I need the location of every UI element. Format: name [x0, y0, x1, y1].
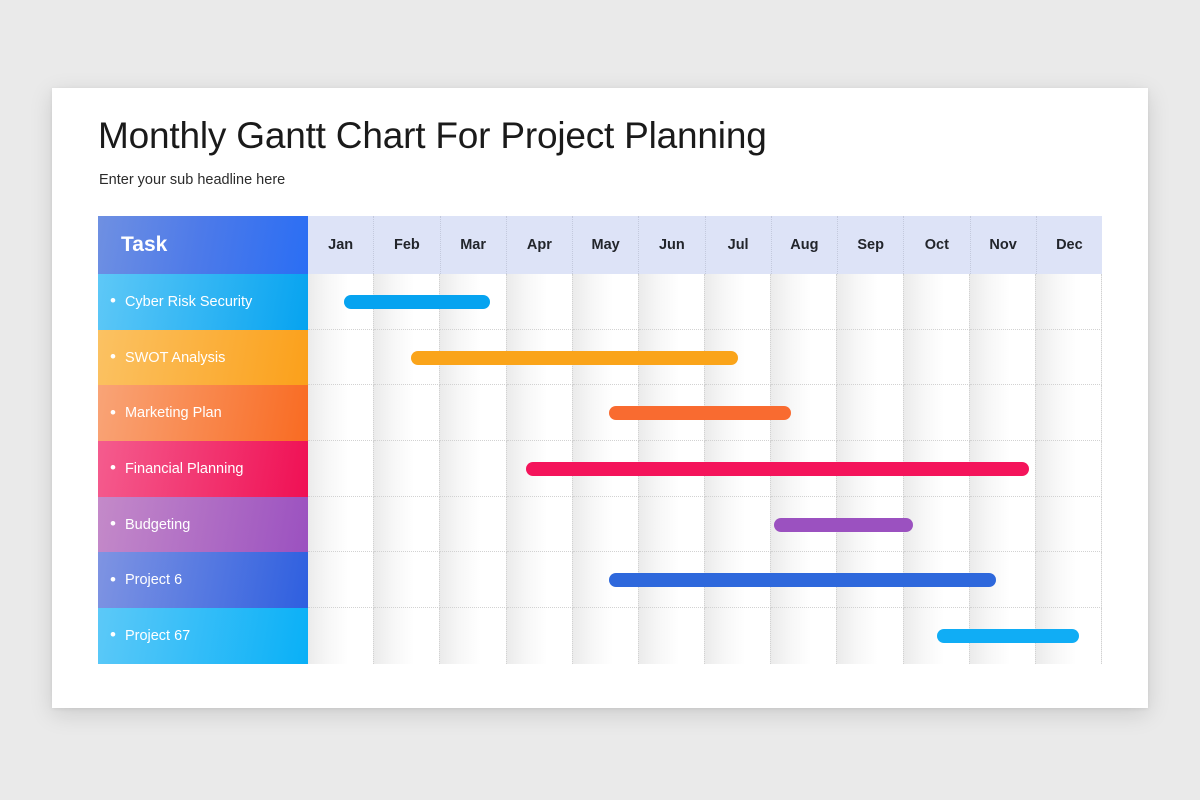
timeline-cell	[507, 497, 573, 553]
task-timeline-track	[308, 274, 1102, 330]
timeline-cell	[904, 330, 970, 386]
gantt-bar[interactable]	[344, 295, 490, 309]
timeline-cell	[440, 441, 506, 497]
timeline-cell	[507, 274, 573, 330]
gantt-header-row: Task JanFebMarAprMayJunJulAugSepOctNovDe…	[98, 216, 1102, 274]
timeline-cell	[374, 441, 440, 497]
gantt-bar[interactable]	[937, 629, 1079, 643]
timeline-cell	[1036, 385, 1102, 441]
timeline-cell	[440, 552, 506, 608]
bullet-icon: •	[110, 292, 116, 309]
gantt-row: •Budgeting	[98, 497, 1102, 553]
gantt-row: •Marketing Plan	[98, 385, 1102, 441]
timeline-cell	[837, 385, 903, 441]
timeline-cell	[1036, 330, 1102, 386]
timeline-cell	[639, 497, 705, 553]
task-label-cell[interactable]: •Marketing Plan	[98, 385, 308, 441]
month-header-strip: JanFebMarAprMayJunJulAugSepOctNovDec	[308, 216, 1102, 274]
month-header-apr: Apr	[507, 216, 573, 274]
task-timeline-track	[308, 385, 1102, 441]
gantt-row: •Project 6	[98, 552, 1102, 608]
timeline-cell	[374, 552, 440, 608]
gantt-bar[interactable]	[609, 573, 996, 587]
timeline-cell	[507, 552, 573, 608]
timeline-cell	[705, 274, 771, 330]
month-header-aug: Aug	[772, 216, 838, 274]
timeline-cell	[771, 274, 837, 330]
task-timeline-track	[308, 497, 1102, 553]
timeline-cell	[573, 274, 639, 330]
task-label-text: Project 6	[125, 572, 182, 588]
bullet-icon: •	[110, 348, 116, 365]
timeline-cell	[308, 608, 374, 664]
timeline-cell	[837, 274, 903, 330]
timeline-cell	[771, 330, 837, 386]
gantt-chart: Task JanFebMarAprMayJunJulAugSepOctNovDe…	[98, 216, 1102, 664]
bullet-icon: •	[110, 626, 116, 643]
task-timeline-track	[308, 330, 1102, 386]
gantt-bar[interactable]	[526, 462, 1029, 476]
timeline-cell	[308, 385, 374, 441]
page-title: Monthly Gantt Chart For Project Planning	[98, 115, 767, 157]
month-header-oct: Oct	[904, 216, 970, 274]
task-timeline-track	[308, 552, 1102, 608]
bullet-icon: •	[110, 571, 116, 588]
timeline-cell	[440, 385, 506, 441]
timeline-cell	[308, 552, 374, 608]
timeline-cell	[573, 497, 639, 553]
timeline-cell	[374, 608, 440, 664]
timeline-cell	[308, 497, 374, 553]
task-label-text: Project 67	[125, 628, 190, 644]
task-label-text: Marketing Plan	[125, 405, 222, 421]
task-label-cell[interactable]: •Project 6	[98, 552, 308, 608]
page-subtitle: Enter your sub headline here	[99, 172, 285, 188]
month-header-may: May	[573, 216, 639, 274]
timeline-cell	[1036, 274, 1102, 330]
task-label-cell[interactable]: •Financial Planning	[98, 441, 308, 497]
timeline-cell	[970, 385, 1036, 441]
month-header-jan: Jan	[308, 216, 374, 274]
timeline-cell	[705, 608, 771, 664]
gantt-row: •SWOT Analysis	[98, 330, 1102, 386]
timeline-cell	[904, 497, 970, 553]
gantt-row: •Financial Planning	[98, 441, 1102, 497]
timeline-cell	[374, 385, 440, 441]
gantt-body: •Cyber Risk Security•SWOT Analysis•Marke…	[98, 274, 1102, 664]
month-header-dec: Dec	[1037, 216, 1102, 274]
gantt-bar[interactable]	[609, 406, 791, 420]
task-label-text: Cyber Risk Security	[125, 294, 252, 310]
bullet-icon: •	[110, 404, 116, 421]
task-label-text: Financial Planning	[125, 461, 244, 477]
timeline-cell	[1036, 497, 1102, 553]
timeline-cell	[308, 330, 374, 386]
timeline-cell	[639, 274, 705, 330]
timeline-cell	[440, 497, 506, 553]
task-label-cell[interactable]: •Project 67	[98, 608, 308, 664]
timeline-cell	[573, 608, 639, 664]
month-header-jul: Jul	[706, 216, 772, 274]
timeline-cell	[970, 330, 1036, 386]
task-timeline-track	[308, 441, 1102, 497]
timeline-cell	[970, 274, 1036, 330]
timeline-cell	[639, 608, 705, 664]
gantt-row: •Project 67	[98, 608, 1102, 664]
month-header-mar: Mar	[441, 216, 507, 274]
task-column-header-label: Task	[121, 233, 167, 257]
timeline-cell	[507, 385, 573, 441]
task-label-cell[interactable]: •SWOT Analysis	[98, 330, 308, 386]
gantt-bar[interactable]	[411, 351, 739, 365]
timeline-cell	[904, 274, 970, 330]
timeline-cell	[837, 330, 903, 386]
timeline-cell	[705, 497, 771, 553]
timeline-cell	[970, 497, 1036, 553]
month-header-jun: Jun	[639, 216, 705, 274]
timeline-cell	[1036, 441, 1102, 497]
gantt-bar[interactable]	[774, 518, 913, 532]
task-label-cell[interactable]: •Cyber Risk Security	[98, 274, 308, 330]
timeline-cell	[440, 608, 506, 664]
gantt-row: •Cyber Risk Security	[98, 274, 1102, 330]
task-label-cell[interactable]: •Budgeting	[98, 497, 308, 553]
task-column-header: Task	[98, 216, 308, 274]
timeline-cell	[1036, 552, 1102, 608]
task-label-text: SWOT Analysis	[125, 350, 225, 366]
task-timeline-track	[308, 608, 1102, 664]
timeline-cell	[904, 385, 970, 441]
timeline-cell	[771, 608, 837, 664]
timeline-cell	[837, 608, 903, 664]
bullet-icon: •	[110, 459, 116, 476]
month-header-sep: Sep	[838, 216, 904, 274]
bullet-icon: •	[110, 515, 116, 532]
slide-card: Monthly Gantt Chart For Project Planning…	[52, 88, 1148, 708]
timeline-cell	[374, 497, 440, 553]
task-label-text: Budgeting	[125, 517, 190, 533]
month-header-feb: Feb	[374, 216, 440, 274]
timeline-cell	[507, 608, 573, 664]
month-header-nov: Nov	[971, 216, 1037, 274]
timeline-cell	[308, 441, 374, 497]
